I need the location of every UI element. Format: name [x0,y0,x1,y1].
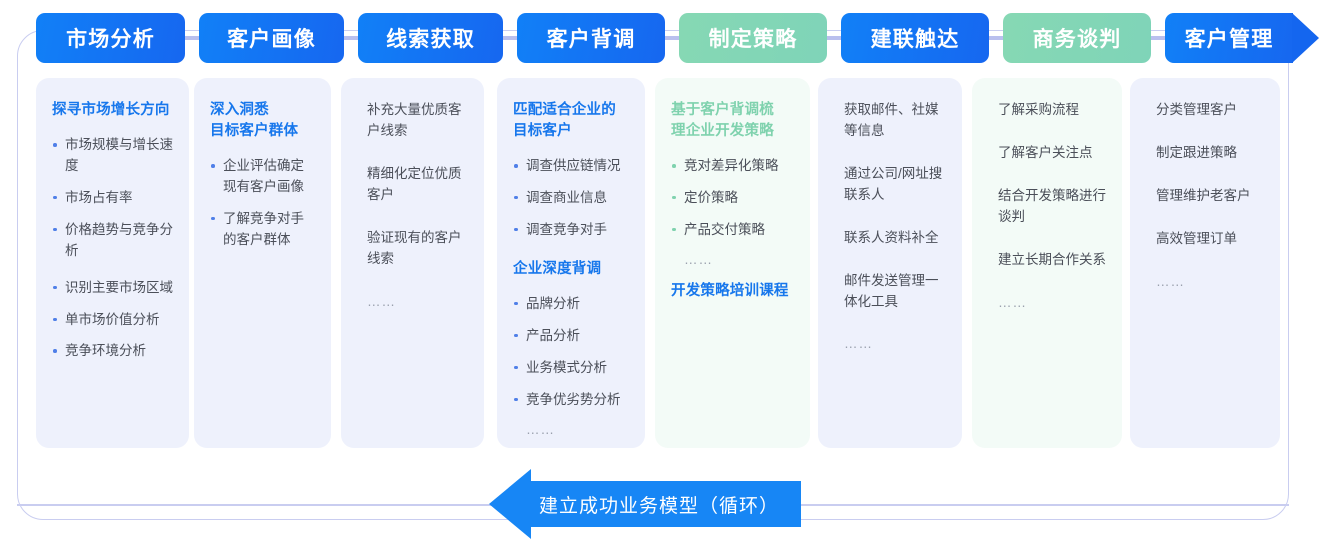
list-item: 建立长期合作关系 [996,250,1106,271]
arrow-left-icon [489,469,531,539]
tab-connector [185,36,199,40]
list-item-ellipsis: …… [996,293,1106,314]
list-item: 调查商业信息 [513,188,629,209]
list-item: 单市场价值分析 [52,310,173,331]
tab-connector [503,36,517,40]
tab-wrap-customer-management: 客户管理 [1165,13,1293,63]
tab-wrap-customer-background: 客户背调 [517,13,665,63]
card-outreach: 获取邮件、社媒等信息 通过公司/网址搜联系人 联系人资料补全 邮件发送管理一体化… [818,78,962,448]
tab-label: 制定策略 [709,23,798,53]
card-text-list: 获取邮件、社媒等信息 通过公司/网址搜联系人 联系人资料补全 邮件发送管理一体化… [842,100,946,355]
list-item: 产品分析 [513,326,629,347]
list-item: 制定跟进策略 [1154,143,1264,164]
flow-diagram: 市场分析 客户画像 线索获取 客户背调 制定策略 [0,0,1327,550]
list-item: 调查竞争对手 [513,220,629,241]
card-heading-line1: 基于客户背调梳 [671,102,774,118]
list-item-ellipsis: …… [365,292,468,313]
tab-connector [665,36,679,40]
card-bullet-list: 竞对差异化策略 定价策略 产品交付策略 [671,156,794,241]
list-item: 验证现有的客户线索 [365,228,468,270]
card-customer-management: 分类管理客户 制定跟进策略 管理维护老客户 高效管理订单 …… [1130,78,1280,448]
list-item: 价格趋势与竞争分析 [52,220,173,262]
tab-connector [989,36,1003,40]
list-item: 品牌分析 [513,294,629,315]
card-bullet-list-secondary: 品牌分析 产品分析 业务模式分析 竞争优劣势分析 [513,294,629,411]
tab-connector [1151,36,1165,40]
card-bullet-list: 调查供应链情况 调查商业信息 调查竞争对手 [513,156,629,241]
cycle-banner-body: 建立成功业务模型（循环） [531,481,801,527]
tab-arrow-head-icon [1292,13,1319,63]
list-item: 邮件发送管理一体化工具 [842,271,946,313]
tab-wrap-market-analysis: 市场分析 [36,13,185,63]
tab-strategy[interactable]: 制定策略 [679,13,827,63]
card-text-list: 分类管理客户 制定跟进策略 管理维护老客户 高效管理订单 …… [1154,100,1264,293]
list-item: 了解采购流程 [996,100,1106,121]
tab-wrap-negotiation: 商务谈判 [1003,13,1151,63]
card-customer-profile: 深入洞悉 目标客户群体 企业评估确定现有客户画像 了解竞争对手的客户群体 [194,78,331,448]
card-heading-line2: 理企业开发策略 [671,123,774,139]
tab-market-analysis[interactable]: 市场分析 [36,13,185,63]
tab-lead-acquisition[interactable]: 线索获取 [358,13,503,63]
card-market-analysis: 探寻市场增长方向 市场规模与增长速度 市场占有率 价格趋势与竞争分析 识别主要市… [36,78,189,448]
stage-cards: 探寻市场增长方向 市场规模与增长速度 市场占有率 价格趋势与竞争分析 识别主要市… [0,78,1327,448]
card-heading-secondary: 开发策略培训课程 [671,281,794,302]
tab-customer-profile[interactable]: 客户画像 [199,13,344,63]
list-item: 通过公司/网址搜联系人 [842,164,946,206]
tab-wrap-customer-profile: 客户画像 [199,13,344,63]
card-heading-line1: 深入洞悉 [210,102,269,118]
list-item: 高效管理订单 [1154,229,1264,250]
tab-label: 客户画像 [227,23,316,53]
card-heading: 基于客户背调梳 理企业开发策略 [671,100,794,142]
card-strategy: 基于客户背调梳 理企业开发策略 竞对差异化策略 定价策略 产品交付策略 …… 开… [655,78,810,448]
list-item-ellipsis: …… [842,334,946,355]
list-item: 分类管理客户 [1154,100,1264,121]
list-item-ellipsis: …… [1154,272,1264,293]
list-item: 市场规模与增长速度 [52,135,173,177]
list-item: 竞争优劣势分析 [513,390,629,411]
stage-tabs: 市场分析 客户画像 线索获取 客户背调 制定策略 [0,13,1327,63]
card-heading-line2: 目标客户 [513,123,572,139]
list-item: 管理维护老客户 [1154,186,1264,207]
list-item: 补充大量优质客户线索 [365,100,468,142]
card-bullet-list: 市场规模与增长速度 市场占有率 价格趋势与竞争分析 识别主要市场区域 单市场价值… [52,135,173,362]
tab-label: 客户管理 [1185,23,1274,53]
card-customer-background: 匹配适合企业的 目标客户 调查供应链情况 调查商业信息 调查竞争对手 企业深度背… [497,78,645,448]
list-item: 结合开发策略进行谈判 [996,186,1106,228]
list-item: 识别主要市场区域 [52,278,173,299]
card-bullet-list: 企业评估确定现有客户画像 了解竞争对手的客户群体 [210,156,315,251]
list-item: 了解客户关注点 [996,143,1106,164]
card-heading-line1: 匹配适合企业的 [513,102,616,118]
tab-wrap-strategy: 制定策略 [679,13,827,63]
list-item: 定价策略 [671,188,794,209]
tab-customer-background[interactable]: 客户背调 [517,13,665,63]
list-item: 了解竞争对手的客户群体 [210,209,315,251]
tab-wrap-outreach: 建联触达 [841,13,989,63]
tab-label: 客户背调 [547,23,636,53]
cycle-banner: 建立成功业务模型（循环） [489,469,801,539]
list-item: 调查供应链情况 [513,156,629,177]
tab-label: 商务谈判 [1033,23,1122,53]
tab-negotiation[interactable]: 商务谈判 [1003,13,1151,63]
list-item: 获取邮件、社媒等信息 [842,100,946,142]
tab-connector [827,36,841,40]
list-item: 产品交付策略 [671,220,794,241]
tab-connector [344,36,358,40]
list-item: 竞对差异化策略 [671,156,794,177]
card-ellipsis: …… [513,422,629,437]
card-heading: 探寻市场增长方向 [52,100,173,121]
list-item: 企业评估确定现有客户画像 [210,156,315,198]
card-heading-line2: 目标客户群体 [210,123,298,139]
tab-label: 市场分析 [66,23,155,53]
tab-outreach[interactable]: 建联触达 [841,13,989,63]
card-text-list: 补充大量优质客户线索 精细化定位优质客户 验证现有的客户线索 …… [365,100,468,312]
tab-label: 建联触达 [871,23,960,53]
card-ellipsis: …… [671,252,794,267]
tab-label: 线索获取 [386,23,475,53]
list-item: 精细化定位优质客户 [365,164,468,206]
card-heading-secondary: 企业深度背调 [513,259,629,280]
list-item: 竞争环境分析 [52,341,173,362]
tab-customer-management[interactable]: 客户管理 [1165,13,1293,63]
cycle-banner-label: 建立成功业务模型（循环） [539,491,779,518]
list-item: 业务模式分析 [513,358,629,379]
card-heading: 深入洞悉 目标客户群体 [210,100,315,142]
card-heading: 匹配适合企业的 目标客户 [513,100,629,142]
list-item: 联系人资料补全 [842,228,946,249]
tab-wrap-lead-acquisition: 线索获取 [358,13,503,63]
list-item: 市场占有率 [52,188,173,209]
card-negotiation: 了解采购流程 了解客户关注点 结合开发策略进行谈判 建立长期合作关系 …… [972,78,1122,448]
card-text-list: 了解采购流程 了解客户关注点 结合开发策略进行谈判 建立长期合作关系 …… [996,100,1106,314]
card-lead-acquisition: 补充大量优质客户线索 精细化定位优质客户 验证现有的客户线索 …… [341,78,484,448]
